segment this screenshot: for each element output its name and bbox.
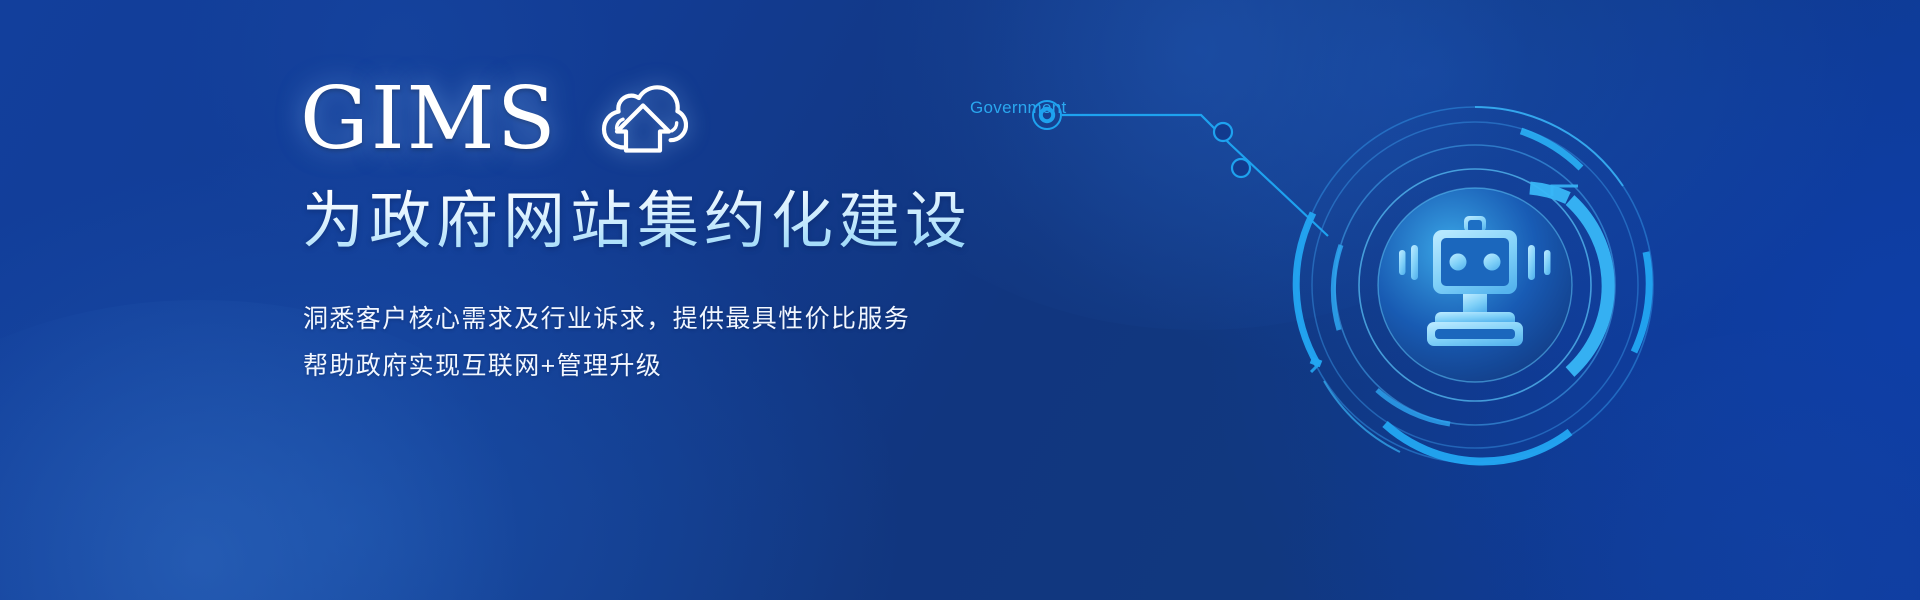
ring-node-icon xyxy=(1033,101,1061,129)
brand-title: GIMS xyxy=(300,76,558,162)
hero-headline: 为政府网站集约化建设 xyxy=(302,186,972,258)
hero-banner: GIMS 为政府网站集约化建设 洞悉客户核心需求及行业诉求，提供最具性价比服务 … xyxy=(0,0,1920,600)
hero-subtext: 洞悉客户核心需求及行业诉求，提供最具性价比服务 帮助政府实现互联网+管理升级 xyxy=(303,296,910,390)
hero-subtext-line-1: 洞悉客户核心需求及行业诉求，提供最具性价比服务 xyxy=(303,296,910,343)
connector-line-icon xyxy=(1062,115,1328,236)
circle-node-icon xyxy=(1232,159,1250,177)
circle-node-icon xyxy=(1214,123,1232,141)
cloud-upload-icon xyxy=(596,84,688,154)
hero-subtext-line-2: 帮助政府实现互联网+管理升级 xyxy=(303,343,910,390)
tech-graphic: Government xyxy=(930,0,1920,600)
brand-row: GIMS xyxy=(300,76,688,162)
